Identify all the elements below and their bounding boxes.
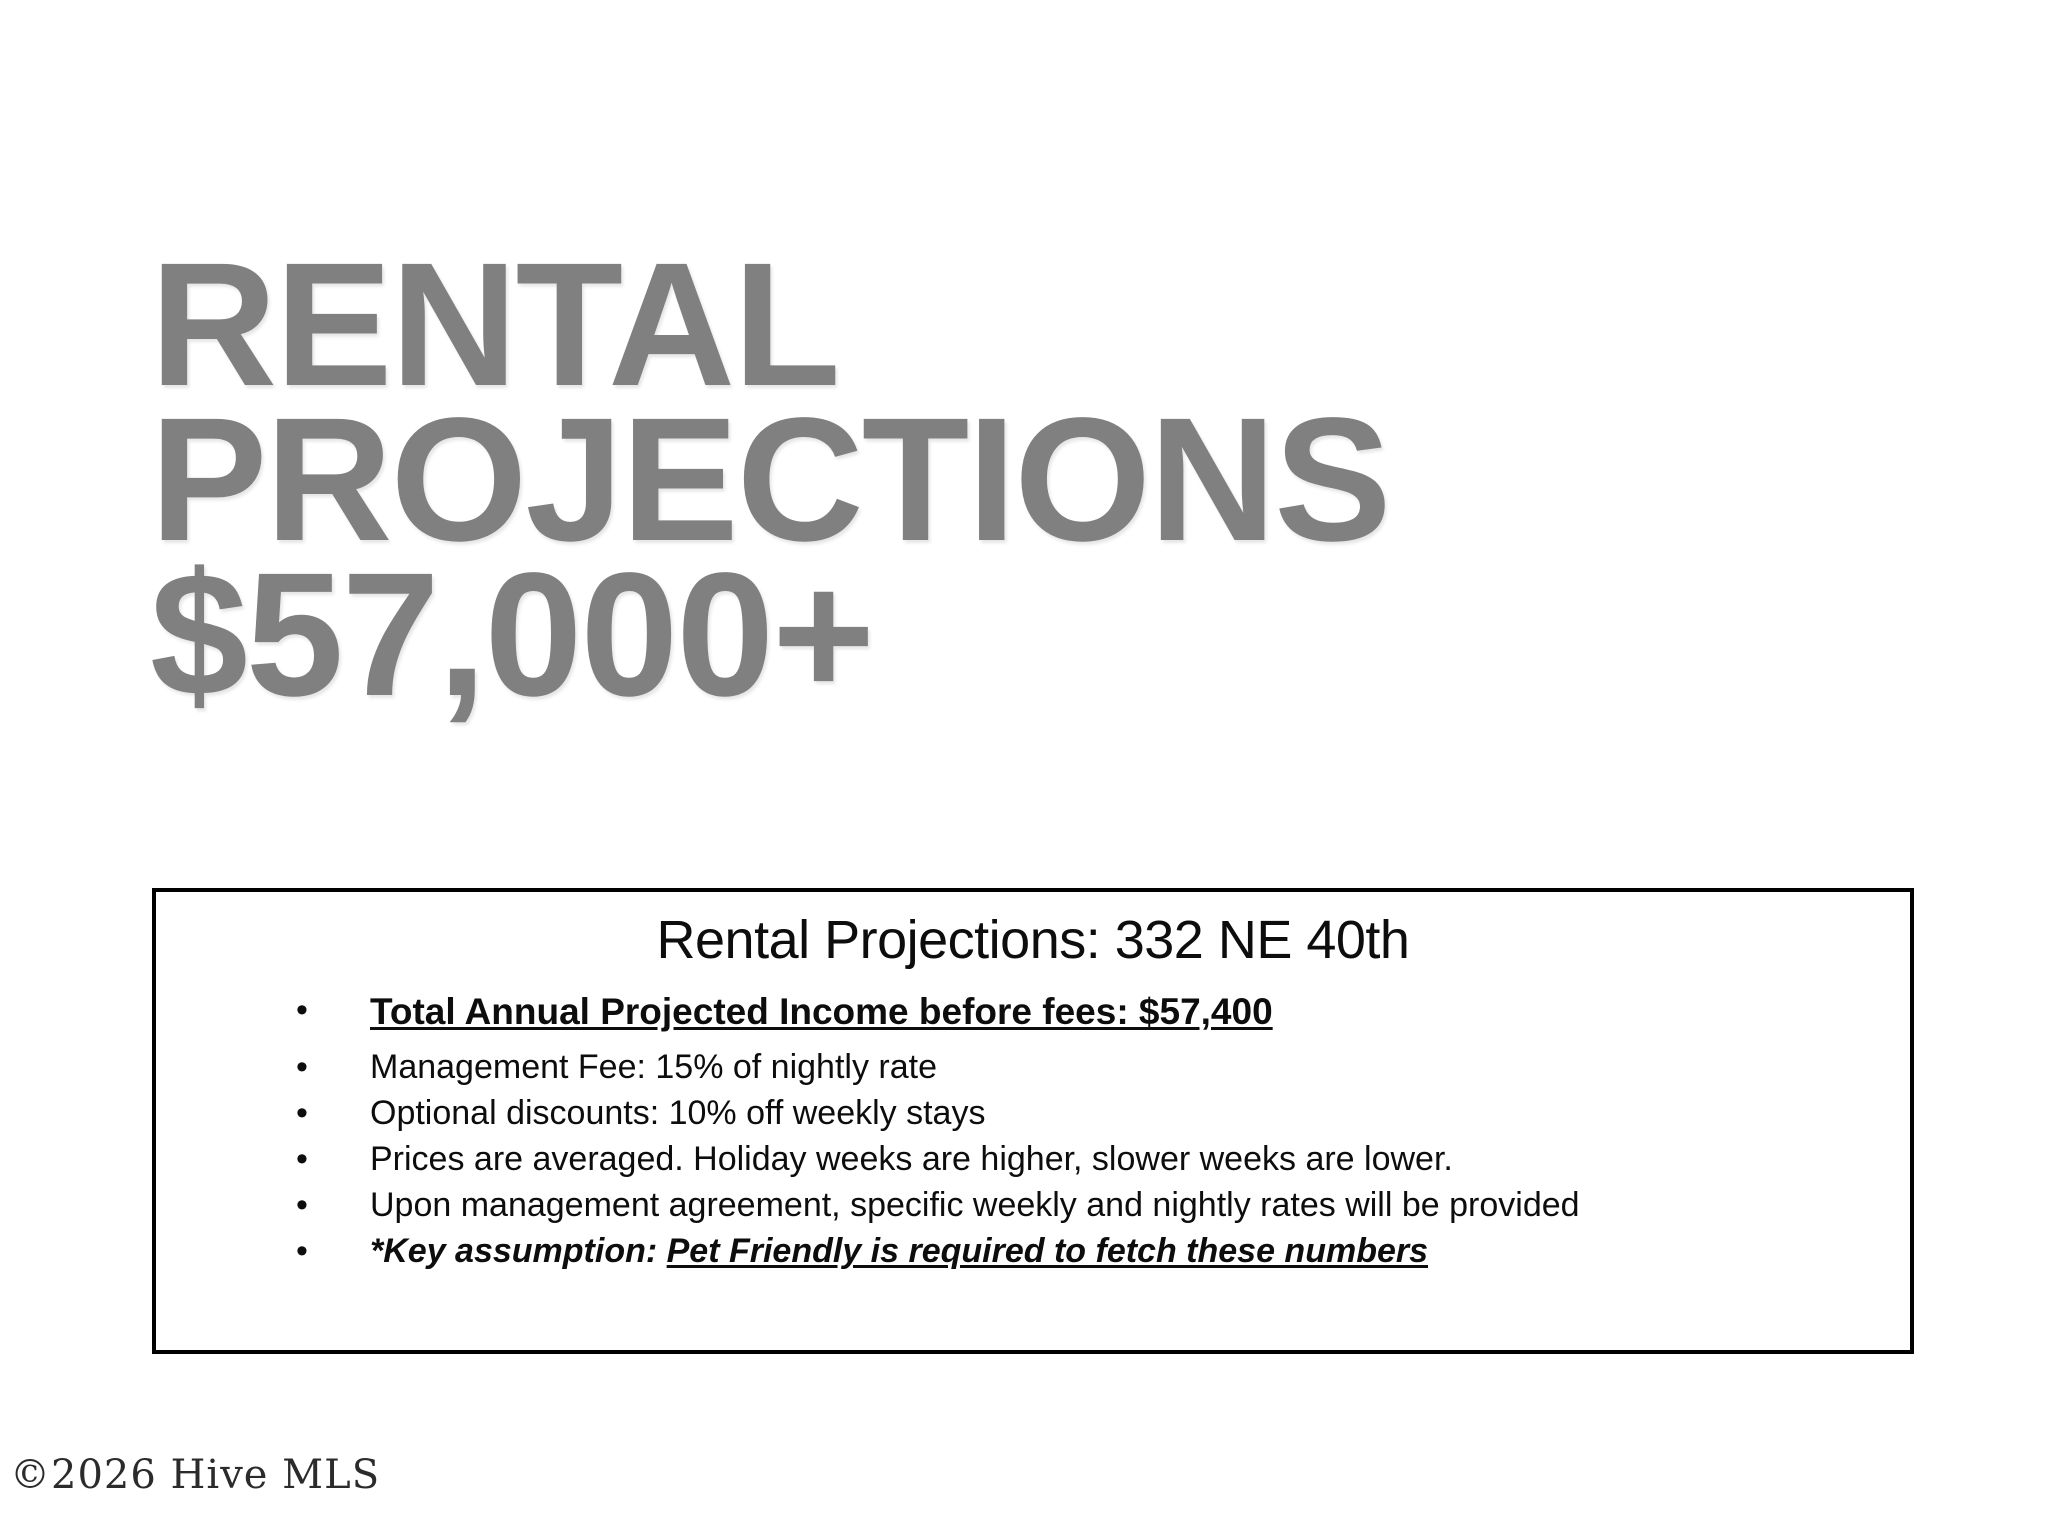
bullet-icon: • <box>296 1045 308 1089</box>
list-item-label: *Key assumption: Pet Friendly is require… <box>370 1232 1428 1270</box>
list-item: • Upon management agreement, specific we… <box>296 1183 1870 1227</box>
list-item: • Prices are averaged. Holiday weeks are… <box>296 1137 1870 1181</box>
list-item-label: Prices are averaged. Holiday weeks are h… <box>370 1140 1453 1178</box>
bullet-icon: • <box>296 1091 308 1135</box>
bullet-list: • Total Annual Projected Income before f… <box>156 988 1910 1273</box>
key-assumption-emphasis: Pet Friendly is required to fetch these … <box>667 1232 1428 1270</box>
page-title-line-1: RENTAL <box>150 248 1670 403</box>
list-item: • Total Annual Projected Income before f… <box>296 988 1870 1036</box>
box-title: Rental Projections: 332 NE 40th <box>156 892 1910 970</box>
list-item: • Management Fee: 15% of nightly rate <box>296 1045 1870 1089</box>
list-item: • Optional discounts: 10% off weekly sta… <box>296 1091 1870 1135</box>
list-item-label: Upon management agreement, specific week… <box>370 1186 1580 1224</box>
slide-canvas: RENTAL PROJECTIONS $57,000+ Rental Proje… <box>0 0 2048 1536</box>
list-item-label: Optional discounts: 10% off weekly stays <box>370 1094 985 1132</box>
bullet-icon: • <box>296 1137 308 1181</box>
key-assumption-prefix: *Key assumption: <box>370 1232 667 1270</box>
page-title-line-3: $57,000+ <box>150 558 1670 713</box>
list-item-label: Management Fee: 15% of nightly rate <box>370 1048 937 1086</box>
page-title-line-2: PROJECTIONS <box>150 403 1670 558</box>
rental-projections-box: Rental Projections: 332 NE 40th • Total … <box>152 888 1914 1354</box>
bullet-icon: • <box>296 1229 308 1273</box>
page-title: RENTAL PROJECTIONS $57,000+ <box>150 248 1670 713</box>
copyright-watermark: ©2026 Hive MLS <box>10 1452 380 1498</box>
list-item: • *Key assumption: Pet Friendly is requi… <box>296 1229 1870 1273</box>
bullet-icon: • <box>296 1183 308 1227</box>
list-item-label: Total Annual Projected Income before fee… <box>370 991 1273 1032</box>
bullet-icon: • <box>296 988 308 1032</box>
